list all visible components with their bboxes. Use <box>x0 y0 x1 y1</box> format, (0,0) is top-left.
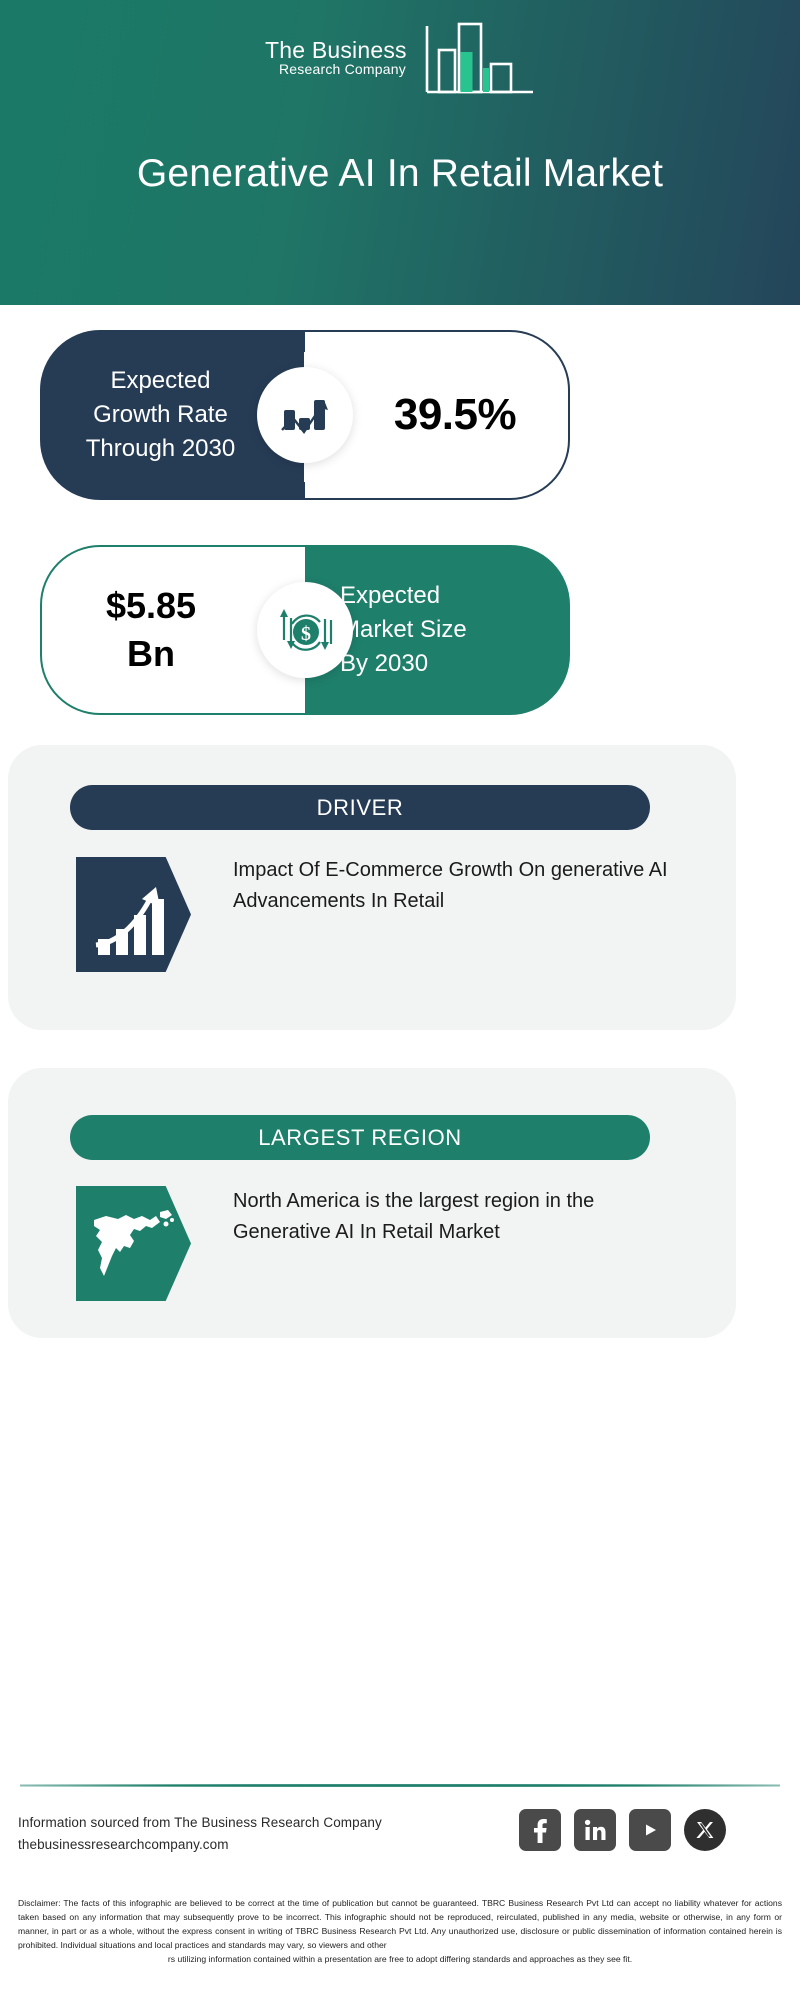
growth-arrow-bars-icon <box>76 857 191 972</box>
stat-card-label: Expected Market Size By 2030 <box>340 545 570 715</box>
disclaimer-body: Disclaimer: The facts of this infographi… <box>18 1898 782 1950</box>
region-icon-arrow-shape <box>76 1186 191 1301</box>
linkedin-icon[interactable] <box>574 1809 616 1851</box>
footer-source-line: Information sourced from The Business Re… <box>18 1815 382 1830</box>
facebook-icon[interactable] <box>519 1809 561 1851</box>
svg-text:$: $ <box>301 623 311 645</box>
stat-label-line-2: Growth Rate <box>40 398 281 432</box>
north-america-map-icon <box>76 1186 191 1301</box>
stat-value-line-1: $5.85 <box>106 582 196 630</box>
panel-largest-region: LARGEST REGION North America is the larg… <box>8 1068 736 1338</box>
stat-label-line-3: By 2030 <box>340 647 570 681</box>
social-links <box>519 1809 619 1855</box>
logo-line-2: Research Company <box>265 62 433 77</box>
youtube-icon[interactable] <box>629 1809 671 1851</box>
growth-chart-arrow-icon <box>276 386 334 444</box>
stat-label-line-1: Expected <box>340 579 570 613</box>
stat-label-line-2: Market Size <box>340 613 570 647</box>
driver-description: Impact Of E-Commerce Growth On generativ… <box>233 855 683 917</box>
stat-card-value: 39.5% <box>340 330 570 500</box>
disclaimer-last-line: rs utilizing information contained withi… <box>18 1953 782 1967</box>
footer-disclaimer: Disclaimer: The facts of this infographi… <box>18 1897 782 1967</box>
stat-card-expected-growth-rate: Expected Growth Rate Through 2030 39.5% <box>40 330 570 500</box>
logo-line-1: The Business <box>265 38 433 62</box>
largest-region-description: North America is the largest region in t… <box>233 1186 683 1248</box>
dollar-cycle-icon: $ <box>275 600 335 660</box>
pill-largest-region-title: LARGEST REGION <box>70 1115 650 1160</box>
x-twitter-icon[interactable] <box>684 1809 726 1851</box>
stat-label-line-1: Expected <box>40 364 281 398</box>
facebook-glyph <box>529 1817 551 1843</box>
panel-driver: DRIVER Impact Of E-Commerce Growth On ge… <box>8 745 736 1030</box>
x-glyph <box>694 1819 716 1841</box>
linkedin-glyph <box>583 1818 607 1842</box>
bar-chart-logo-mark <box>425 20 535 98</box>
logo-wordmark: The Business Research Company <box>265 38 433 77</box>
youtube-glyph <box>638 1821 662 1839</box>
footer-divider <box>20 1784 780 1787</box>
stat-card-icon-badge <box>257 367 353 463</box>
footer-website: thebusinessresearchcompany.com <box>18 1837 229 1852</box>
company-logo: The Business Research Company <box>265 20 535 98</box>
pill-driver-title: DRIVER <box>70 785 650 830</box>
header-banner: The Business Research Company Generative… <box>0 0 800 305</box>
driver-icon-arrow-shape <box>76 857 191 972</box>
stat-card-expected-market-size: $5.85 Bn Expected Market Size By 2030 $ <box>40 545 570 715</box>
stat-card-value: $5.85 Bn <box>40 545 290 715</box>
stat-label-line-3: Through 2030 <box>40 432 281 466</box>
stat-value-line-2: Bn <box>127 630 175 678</box>
page-title: Generative AI In Retail Market <box>0 152 800 196</box>
stat-card-icon-badge: $ <box>257 582 353 678</box>
